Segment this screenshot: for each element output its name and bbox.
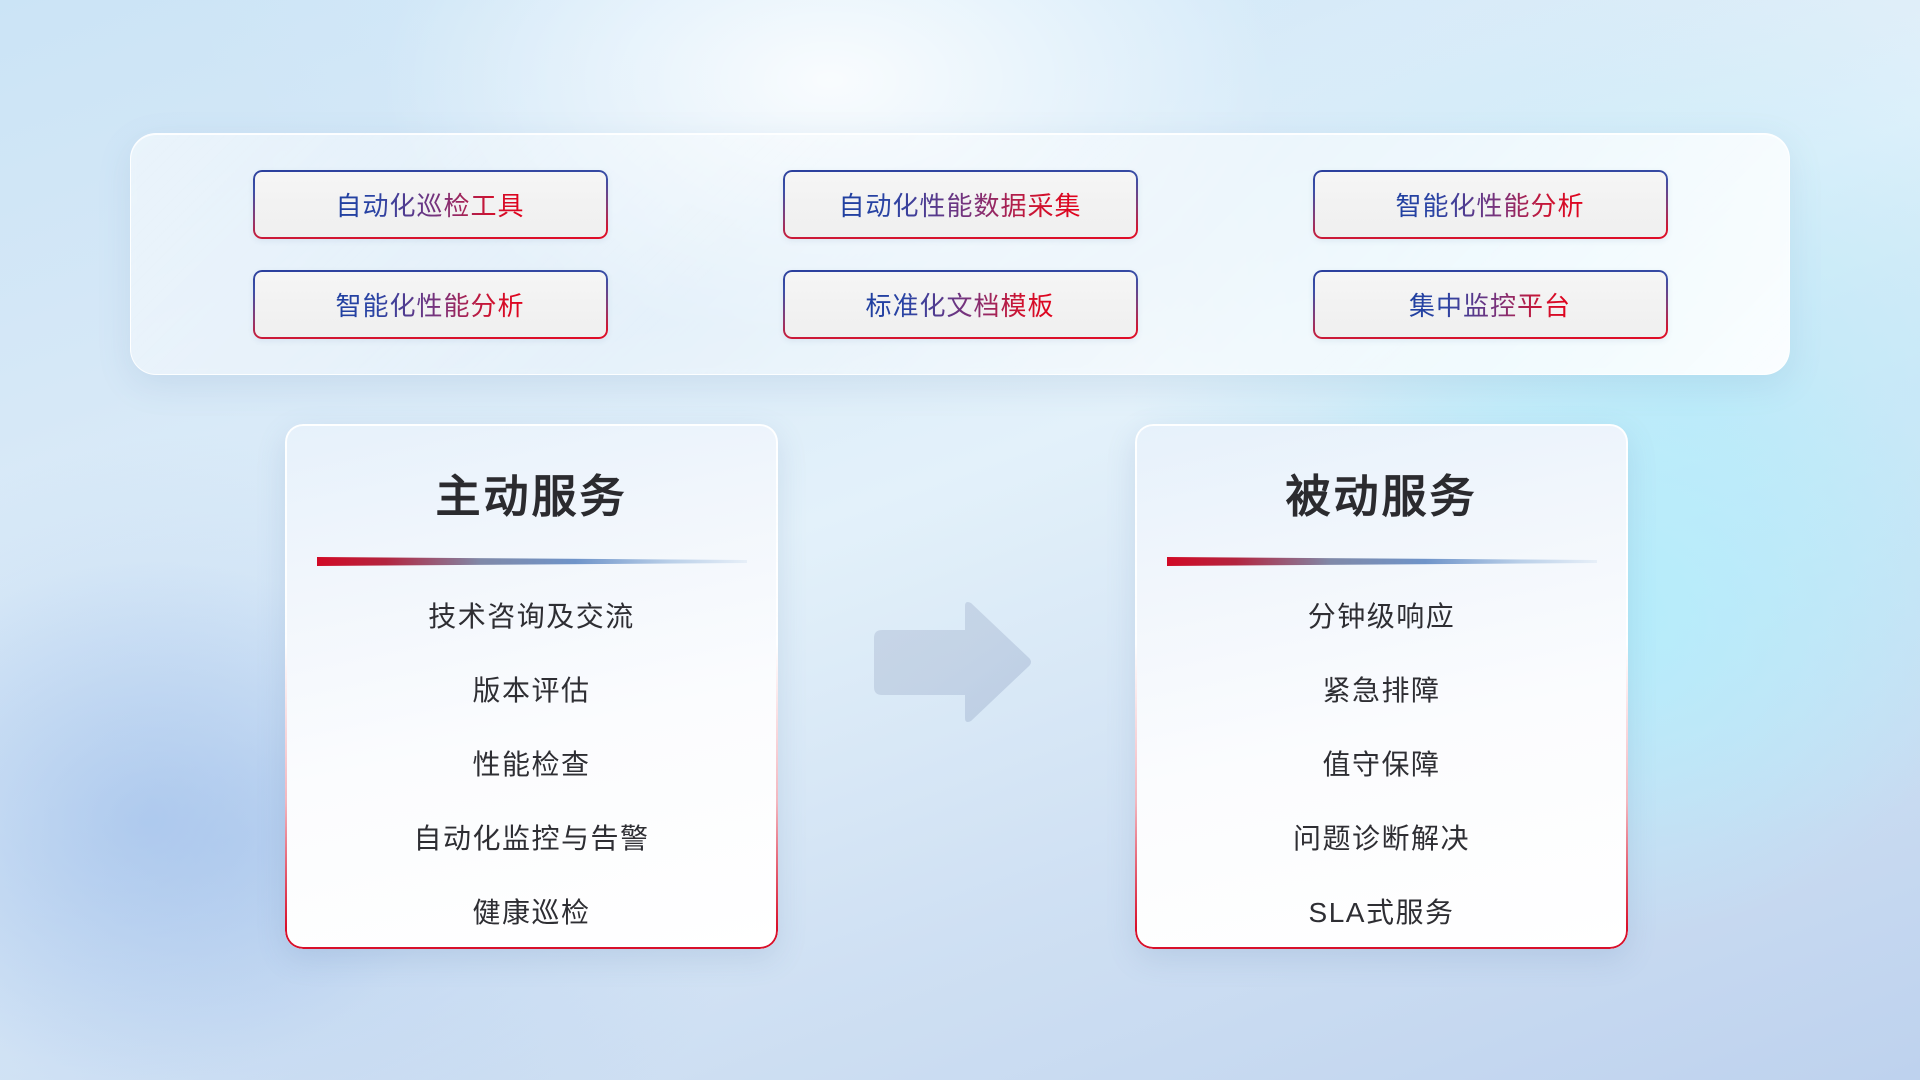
service-list-item: SLA式服务 bbox=[1153, 885, 1610, 941]
service-list-item: 值守保障 bbox=[1153, 737, 1610, 793]
gradient-divider bbox=[317, 555, 747, 567]
service-list-item: 健康巡检 bbox=[303, 885, 760, 941]
service-list-item: 分钟级响应 bbox=[1153, 589, 1610, 645]
service-list-item: 紧急排障 bbox=[1153, 663, 1610, 719]
service-list-item: 问题诊断解决 bbox=[1153, 811, 1610, 867]
gradient-divider bbox=[1167, 555, 1597, 567]
service-list-item: 版本评估 bbox=[303, 663, 760, 719]
right-arrow-icon bbox=[868, 600, 1033, 725]
service-item-list: 技术咨询及交流 版本评估 性能检查 自动化监控与告警 健康巡检 bbox=[285, 589, 778, 941]
capability-chip-label: 自动化巡检工具 bbox=[335, 186, 524, 223]
service-card-passive[interactable]: 被动服务 分钟级响应 紧急排障 值守保障 bbox=[1135, 424, 1628, 949]
capability-chip-6[interactable]: 集中监控平台 bbox=[1313, 270, 1668, 339]
service-list-item: 技术咨询及交流 bbox=[303, 589, 760, 645]
capability-chip-label: 智能化性能分析 bbox=[335, 286, 524, 323]
capability-chip-3[interactable]: 智能化性能分析 bbox=[1313, 170, 1668, 239]
capability-chip-4[interactable]: 智能化性能分析 bbox=[253, 270, 608, 339]
diagram-canvas: 自动化巡检工具 自动化性能数据采集 智能化性能分析 智能化性能分析 标准化文档模… bbox=[0, 0, 1920, 1080]
capability-chip-label: 标准化文档模板 bbox=[865, 286, 1054, 323]
capability-panel: 自动化巡检工具 自动化性能数据采集 智能化性能分析 智能化性能分析 标准化文档模… bbox=[130, 133, 1790, 375]
capability-chip-label: 集中监控平台 bbox=[1409, 286, 1571, 323]
card-title: 被动服务 bbox=[1135, 460, 1628, 525]
service-list-item: 性能检查 bbox=[303, 737, 760, 793]
capability-chip-2[interactable]: 自动化性能数据采集 bbox=[783, 170, 1138, 239]
service-list-item: 自动化监控与告警 bbox=[303, 811, 760, 867]
capability-chip-5[interactable]: 标准化文档模板 bbox=[783, 270, 1138, 339]
card-title: 主动服务 bbox=[285, 460, 778, 525]
capability-chip-label: 自动化性能数据采集 bbox=[838, 186, 1081, 223]
capability-chip-1[interactable]: 自动化巡检工具 bbox=[253, 170, 608, 239]
capability-chip-label: 智能化性能分析 bbox=[1395, 186, 1584, 223]
service-item-list: 分钟级响应 紧急排障 值守保障 问题诊断解决 SLA式服务 bbox=[1135, 589, 1628, 941]
service-card-active[interactable]: 主动服务 技术咨询及交流 版本评估 性能检查 bbox=[285, 424, 778, 949]
